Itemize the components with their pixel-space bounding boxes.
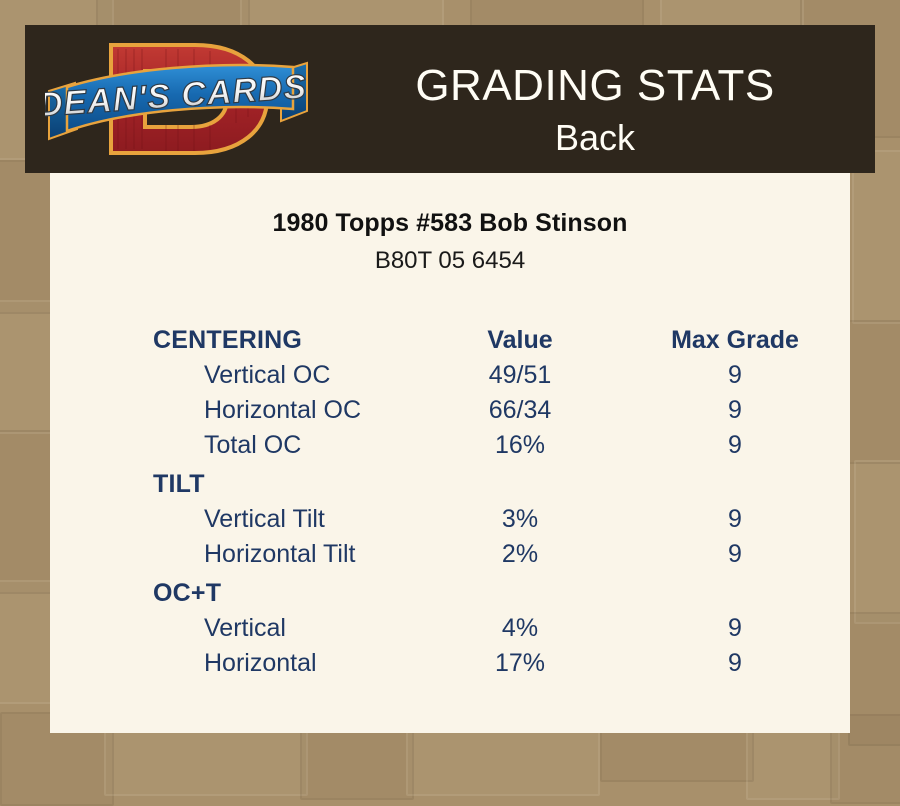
table-row: Vertical Tilt 3% 9 — [50, 499, 850, 534]
table-row: Vertical 4% 9 — [50, 608, 850, 643]
row-max-grade: 9 — [620, 534, 850, 569]
page-subtitle: Back — [325, 117, 865, 159]
table-row: Total OC 16% 9 — [50, 425, 850, 460]
card-serial-number: B80T 05 6454 — [50, 238, 850, 275]
column-header-section: CENTERING — [50, 315, 420, 355]
bg-card-shape — [852, 150, 900, 324]
row-max-grade: 9 — [620, 425, 850, 460]
header-bar: DEAN'S CARDS GRADING STATS Back — [25, 25, 875, 173]
row-label: Total OC — [50, 425, 420, 460]
card-title: 1980 Topps #583 Bob Stinson — [50, 173, 850, 238]
grading-stats-table: CENTERING Value Max Grade Vertical OC 49… — [50, 315, 850, 678]
bg-card-shape — [854, 460, 900, 624]
row-max-grade: 9 — [620, 499, 850, 534]
row-max-grade: 9 — [620, 355, 850, 390]
bg-card-shape — [104, 722, 308, 796]
row-value: 49/51 — [420, 355, 620, 390]
row-label: Vertical OC — [50, 355, 420, 390]
table-row: Vertical OC 49/51 9 — [50, 355, 850, 390]
deans-cards-logo[interactable]: DEAN'S CARDS — [45, 31, 315, 167]
row-value: 17% — [420, 643, 620, 678]
row-value: 3% — [420, 499, 620, 534]
bg-card-shape — [746, 722, 840, 800]
table-header-row: CENTERING Value Max Grade — [50, 315, 850, 355]
row-value: 66/34 — [420, 390, 620, 425]
table-row: Horizontal 17% 9 — [50, 643, 850, 678]
row-value: 2% — [420, 534, 620, 569]
table-row: Horizontal OC 66/34 9 — [50, 390, 850, 425]
row-label: Vertical — [50, 608, 420, 643]
row-label: Horizontal OC — [50, 390, 420, 425]
page-title: GRADING STATS — [325, 61, 865, 111]
logo-banner-text: DEAN'S CARDS — [45, 68, 308, 125]
table-row: Horizontal Tilt 2% 9 — [50, 534, 850, 569]
row-max-grade: 9 — [620, 390, 850, 425]
row-value: 4% — [420, 608, 620, 643]
row-label: Horizontal Tilt — [50, 534, 420, 569]
row-label: Vertical Tilt — [50, 499, 420, 534]
column-header-max-grade: Max Grade — [620, 315, 850, 355]
content-panel: 1980 Topps #583 Bob Stinson B80T 05 6454… — [50, 173, 850, 733]
row-max-grade: 9 — [620, 608, 850, 643]
bg-card-shape — [846, 320, 900, 464]
bg-card-shape — [406, 722, 600, 796]
row-label: Horizontal — [50, 643, 420, 678]
section-label: TILT — [50, 460, 850, 499]
section-label: OC+T — [50, 569, 850, 608]
row-max-grade: 9 — [620, 643, 850, 678]
section-header-oc-plus-t: OC+T — [50, 569, 850, 608]
row-value: 16% — [420, 425, 620, 460]
section-header-tilt: TILT — [50, 460, 850, 499]
column-header-value: Value — [420, 315, 620, 355]
